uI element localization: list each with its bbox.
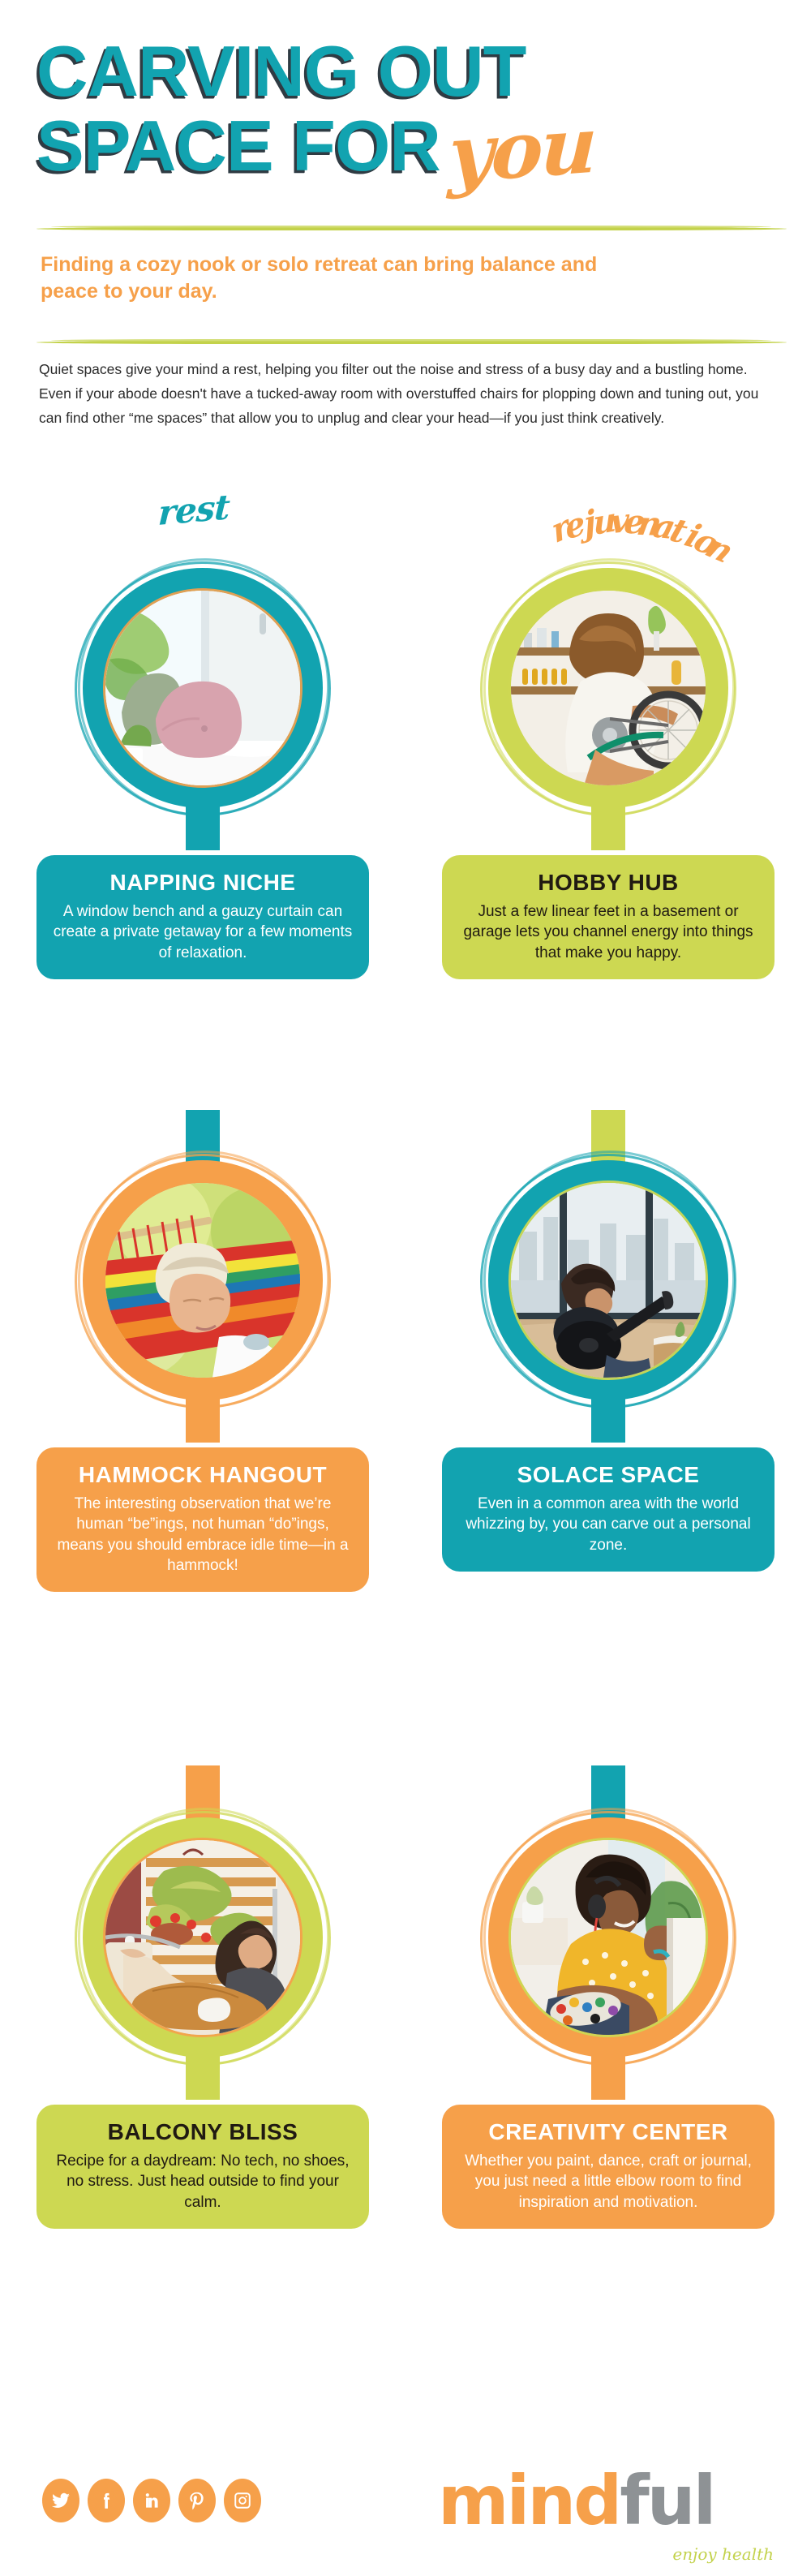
photo-illustration	[511, 591, 706, 785]
divider-stroke-secondary	[51, 226, 771, 228]
card-description: A window bench and a gauzy curtain can c…	[53, 901, 353, 962]
card-description: Even in a common area with the world whi…	[458, 1494, 758, 1555]
title-script-you: you	[448, 114, 596, 187]
twitter-icon[interactable]	[42, 2479, 79, 2522]
card-image-circle	[83, 568, 323, 808]
page-title: CARVING OUT SPACE FORyou	[36, 39, 791, 179]
social-links	[42, 2479, 261, 2522]
card-image-circle	[488, 568, 728, 808]
photo-illustration	[511, 1840, 706, 2035]
card-description: The interesting observation that we’re h…	[53, 1494, 353, 1575]
connector-stem	[591, 1394, 625, 1443]
linkedin-icon[interactable]	[133, 2479, 170, 2522]
card-creativity-center[interactable]: CREATIVITY CENTER Whether you paint, dan…	[405, 1817, 811, 2229]
photo-hobby-hub	[511, 591, 706, 785]
photo-napping-niche	[105, 591, 300, 785]
card-title: HAMMOCK HANGOUT	[53, 1462, 353, 1487]
instagram-icon[interactable]	[224, 2479, 261, 2522]
card-title: NAPPING NICHE	[53, 870, 353, 895]
card-solace-space[interactable]: SOLACE SPACE Even in a common area with …	[405, 1160, 811, 1572]
subtitle: Finding a cozy nook or solo retreat can …	[41, 252, 608, 305]
card-title: CREATIVITY CENTER	[458, 2119, 758, 2144]
divider-stroke-secondary	[51, 339, 771, 342]
connector-stem	[186, 2051, 220, 2100]
infographic-page: CARVING OUT SPACE FORyou Finding a cozy …	[0, 0, 811, 2576]
card-label-box[interactable]: HAMMOCK HANGOUT The interesting observat…	[36, 1447, 369, 1592]
card-label-box[interactable]: HOBBY HUB Just a few linear feet in a ba…	[442, 855, 775, 979]
card-description: Just a few linear feet in a basement or …	[458, 901, 758, 962]
title-line-1: CARVING OUT	[36, 39, 791, 105]
connector-stem	[186, 1394, 220, 1443]
logo-tagline: enjoy health	[672, 2544, 774, 2564]
card-label-box[interactable]: NAPPING NICHE A window bench and a gauzy…	[36, 855, 369, 979]
card-title: BALCONY BLISS	[53, 2119, 353, 2144]
photo-illustration	[511, 1183, 706, 1378]
header-divider-bottom	[36, 339, 787, 345]
photo-illustration	[105, 1183, 300, 1378]
connector-stem	[186, 802, 220, 850]
card-label-box[interactable]: CREATIVITY CENTER Whether you paint, dan…	[442, 2105, 775, 2229]
card-image-circle	[83, 1817, 323, 2058]
section-label-rest: rest	[157, 487, 230, 533]
intro-paragraph: Quiet spaces give your mind a rest, help…	[39, 357, 777, 430]
mindful-logo: mindful enjoy health	[438, 2466, 779, 2564]
facebook-icon[interactable]	[88, 2479, 125, 2522]
card-balcony-bliss[interactable]: BALCONY BLISS Recipe for a daydream: No …	[0, 1817, 405, 2229]
logo-ful-text: ful	[620, 2461, 714, 2540]
card-title: HOBBY HUB	[458, 870, 758, 895]
title-line-2: SPACE FORyou	[36, 113, 791, 179]
photo-illustration	[105, 1840, 300, 2035]
card-description: Whether you paint, dance, craft or journ…	[458, 2151, 758, 2212]
connector-stem	[591, 802, 625, 850]
card-label-box[interactable]: SOLACE SPACE Even in a common area with …	[442, 1447, 775, 1572]
twitter-glyph	[50, 2490, 71, 2511]
photo-balcony-bliss	[105, 1840, 300, 2035]
photo-solace-space	[511, 1183, 706, 1378]
logo-mind-text: mind	[438, 2461, 620, 2540]
card-napping-niche[interactable]: NAPPING NICHE A window bench and a gauzy…	[0, 568, 405, 979]
photo-hammock-hangout	[105, 1183, 300, 1378]
pinterest-icon[interactable]	[178, 2479, 216, 2522]
instagram-glyph	[232, 2490, 253, 2511]
pinterest-glyph	[187, 2490, 208, 2511]
facebook-glyph	[96, 2490, 117, 2511]
card-hammock-hangout[interactable]: HAMMOCK HANGOUT The interesting observat…	[0, 1160, 405, 1592]
card-label-box[interactable]: BALCONY BLISS Recipe for a daydream: No …	[36, 2105, 369, 2229]
photo-creativity-center	[511, 1840, 706, 2035]
card-image-circle	[488, 1817, 728, 2058]
header-divider-top	[36, 226, 787, 231]
card-image-circle	[488, 1160, 728, 1400]
linkedin-glyph	[141, 2490, 162, 2511]
footer: mindful enjoy health	[0, 2450, 811, 2576]
card-image-circle	[83, 1160, 323, 1400]
photo-illustration	[105, 591, 300, 785]
card-title: SOLACE SPACE	[458, 1462, 758, 1487]
card-description: Recipe for a daydream: No tech, no shoes…	[53, 2151, 353, 2212]
connector-stem	[591, 2051, 625, 2100]
title-line-2-text: SPACE FOR	[36, 105, 440, 186]
card-hobby-hub[interactable]: HOBBY HUB Just a few linear feet in a ba…	[405, 568, 811, 979]
